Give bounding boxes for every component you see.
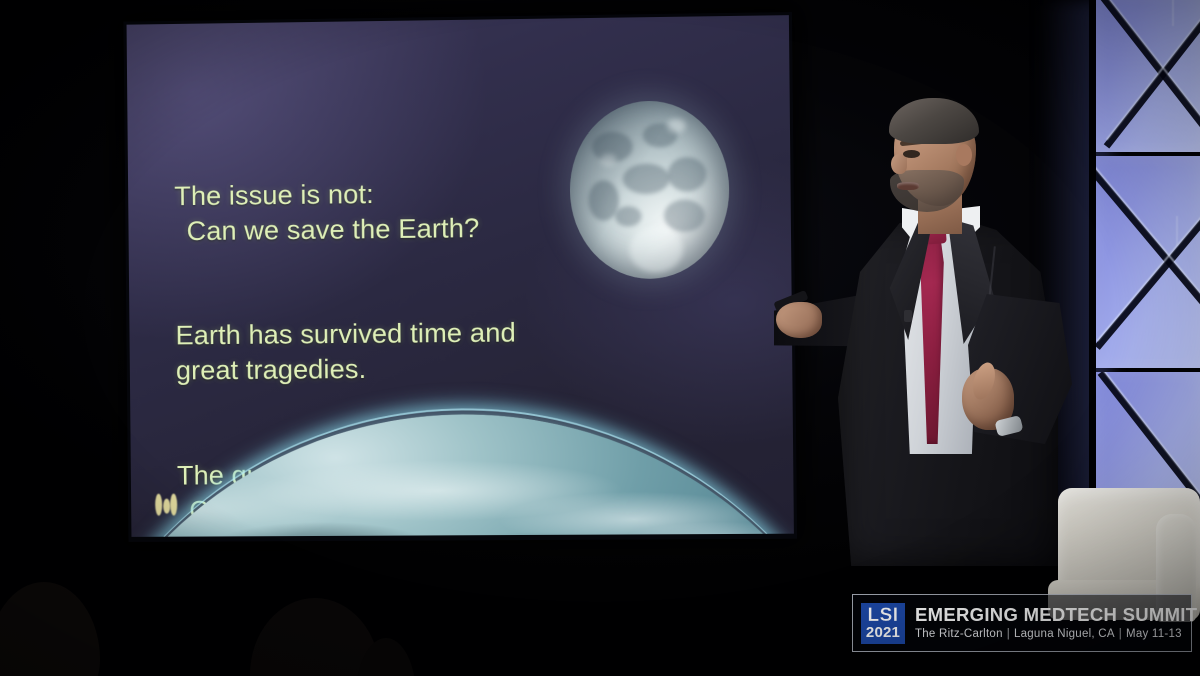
stage-backdrop-panels (1096, 0, 1200, 554)
lsi-logo-mark: LSI (867, 606, 898, 625)
presentation-photo: The issue is not:Can we save the Earth? … (0, 0, 1200, 676)
separator: | (1003, 628, 1014, 640)
presenter-mouth (897, 182, 919, 190)
presenter-ear (956, 144, 972, 166)
event-banner-text: EMERGING MEDTECH SUMMIT The Ritz-Carlton… (915, 604, 1197, 642)
presenter-hair (889, 98, 979, 144)
presenter-nose (891, 154, 907, 174)
slide-paragraph: Earth has survived time andgreat tragedi… (175, 315, 600, 389)
earth-horizon-image (127, 411, 794, 536)
event-dates: May 11-13 (1126, 628, 1182, 640)
presenter-left-hand (776, 302, 822, 338)
event-location: Laguna Niguel, CA (1014, 628, 1115, 640)
slide-canvas: The issue is not:Can we save the Earth? … (127, 15, 794, 537)
separator: | (1115, 628, 1126, 640)
slide-line: Can we save the Earth? (174, 210, 599, 250)
earth-cloud-texture (127, 411, 794, 536)
backdrop-panel (1096, 0, 1200, 152)
deck-corner-logo (153, 493, 179, 519)
lsi-logo: LSI 2021 (861, 603, 905, 644)
projection-screen: The issue is not:Can we save the Earth? … (101, 6, 815, 546)
presenter-eye (903, 150, 920, 158)
event-venue: The Ritz-Carlton (915, 628, 1003, 640)
event-banner: LSI 2021 EMERGING MEDTECH SUMMIT The Rit… (852, 594, 1192, 652)
slide-line: Earth has survived time and (175, 318, 516, 351)
slide-paragraph: The issue is not:Can we save the Earth? (174, 174, 599, 249)
slide-line: great tragedies. (176, 350, 601, 389)
event-details: The Ritz-Carlton|Laguna Niguel, CA|May 1… (915, 627, 1197, 642)
backdrop-panel (1096, 156, 1200, 368)
slide-line: The issue is not: (174, 179, 374, 211)
lapel-microphone (904, 310, 912, 322)
presenter (790, 96, 1100, 566)
lsi-logo-year: 2021 (866, 625, 900, 641)
event-title: EMERGING MEDTECH SUMMIT (915, 604, 1197, 625)
